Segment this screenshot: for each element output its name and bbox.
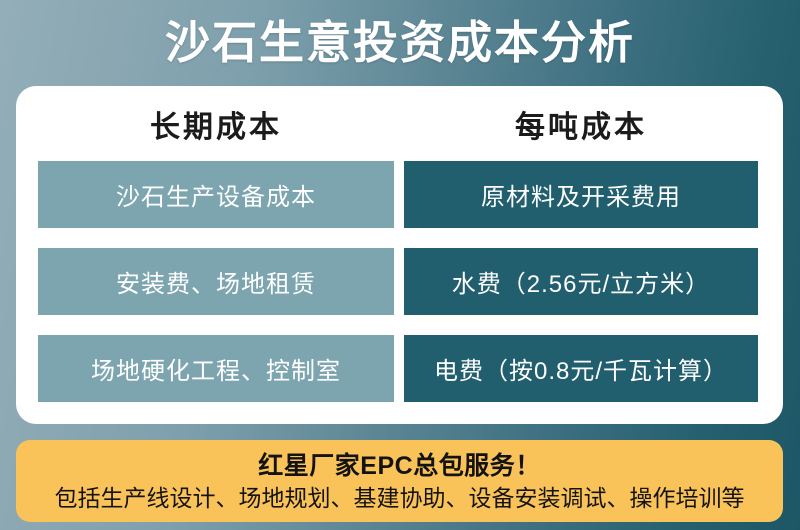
cost-item-per-ton-2: 水费（2.56元/立方米） [404,248,758,315]
cost-item-per-ton-1: 原材料及开采费用 [404,161,758,228]
cost-columns: 长期成本 沙石生产设备成本 安装费、场地租赁 场地硬化工程、控制室 每吨成本 原… [16,86,783,424]
cost-item-long-term-3: 场地硬化工程、控制室 [38,335,394,402]
column-long-term-cost: 长期成本 沙石生产设备成本 安装费、场地租赁 场地硬化工程、控制室 [16,86,394,424]
cost-item-long-term-2: 安装费、场地租赁 [38,248,394,315]
service-banner: 红星厂家EPC总包服务！ 包括生产线设计、场地规划、基建协助、设备安装调试、操作… [16,440,783,522]
column-header-long-term-cost: 长期成本 [38,86,394,161]
column-header-per-ton-cost: 每吨成本 [404,86,758,161]
column-per-ton-cost: 每吨成本 原材料及开采费用 水费（2.56元/立方米） 电费（按0.8元/千瓦计… [394,86,783,424]
infographic-poster: 沙石生意投资成本分析 长期成本 沙石生产设备成本 安装费、场地租赁 场地硬化工程… [0,0,800,530]
cost-item-per-ton-3: 电费（按0.8元/千瓦计算） [404,335,758,402]
service-banner-headline: 红星厂家EPC总包服务！ [258,453,540,481]
poster-title-bar: 沙石生意投资成本分析 [0,8,800,76]
service-banner-subtitle: 包括生产线设计、场地规划、基建协助、设备安装调试、操作培训等 [55,486,745,511]
cost-item-long-term-1: 沙石生产设备成本 [38,161,394,228]
cost-comparison-card: 长期成本 沙石生产设备成本 安装费、场地租赁 场地硬化工程、控制室 每吨成本 原… [16,86,783,424]
page-title: 沙石生意投资成本分析 [165,20,635,65]
